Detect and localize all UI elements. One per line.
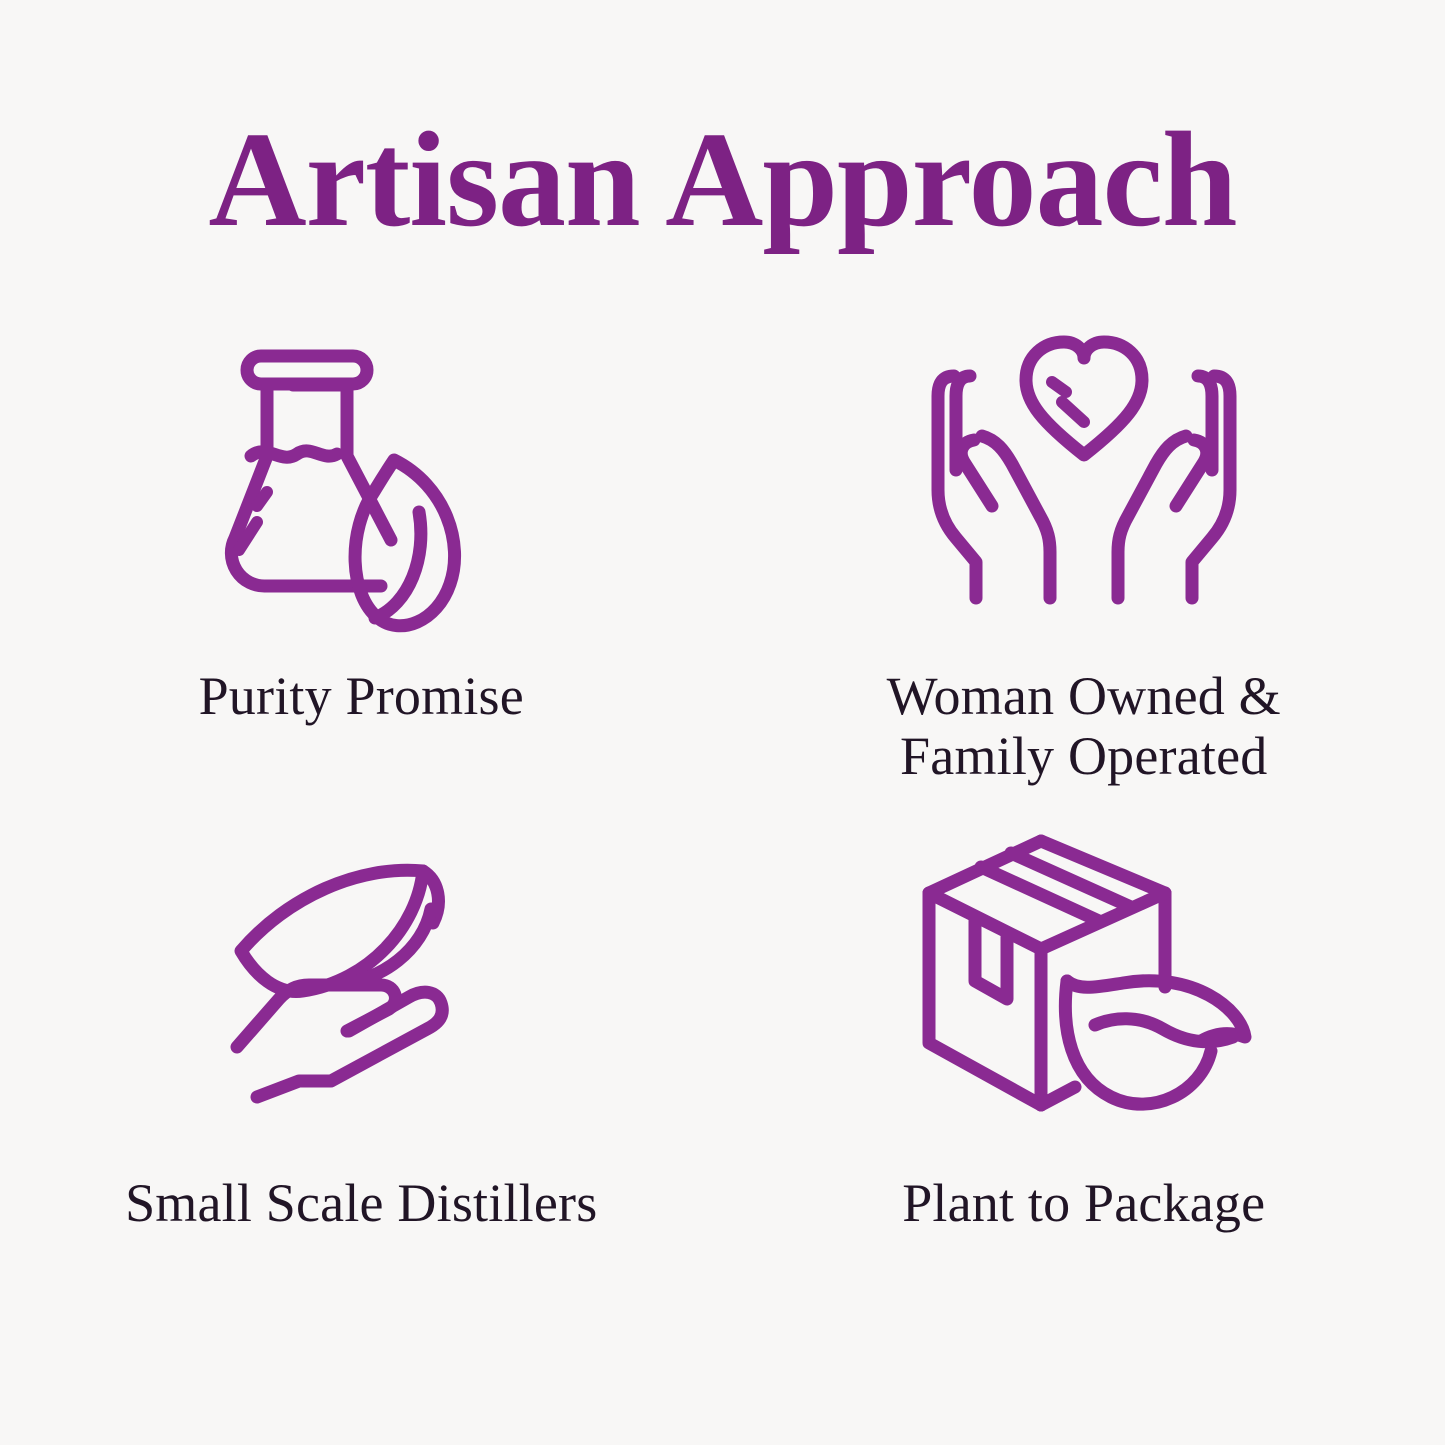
flask-leaf-icon bbox=[0, 330, 723, 630]
page-title: Artisan Approach bbox=[0, 112, 1445, 248]
hands-holding-heart-icon bbox=[723, 330, 1445, 630]
feature-label: Purity Promise bbox=[29, 666, 694, 726]
feature-item-plant-to-package: Plant to Package bbox=[723, 835, 1445, 1340]
feature-label-line-1: Woman Owned & bbox=[751, 666, 1416, 726]
artisan-approach-infographic: Artisan Approach bbox=[0, 0, 1445, 1445]
feature-item-purity-promise: Purity Promise bbox=[0, 330, 723, 835]
feature-grid: Purity Promise bbox=[0, 330, 1445, 1340]
feature-label: Woman Owned & Family Operated bbox=[751, 666, 1416, 787]
feature-label: Plant to Package bbox=[751, 1173, 1416, 1233]
hand-holding-leaf-icon bbox=[0, 835, 723, 1125]
feature-item-woman-owned: Woman Owned & Family Operated bbox=[723, 330, 1445, 835]
feature-label: Small Scale Distillers bbox=[29, 1173, 694, 1233]
feature-label-line-2: Family Operated bbox=[751, 726, 1416, 786]
feature-item-small-scale-distillers: Small Scale Distillers bbox=[0, 835, 723, 1340]
box-leaf-icon bbox=[723, 835, 1445, 1125]
